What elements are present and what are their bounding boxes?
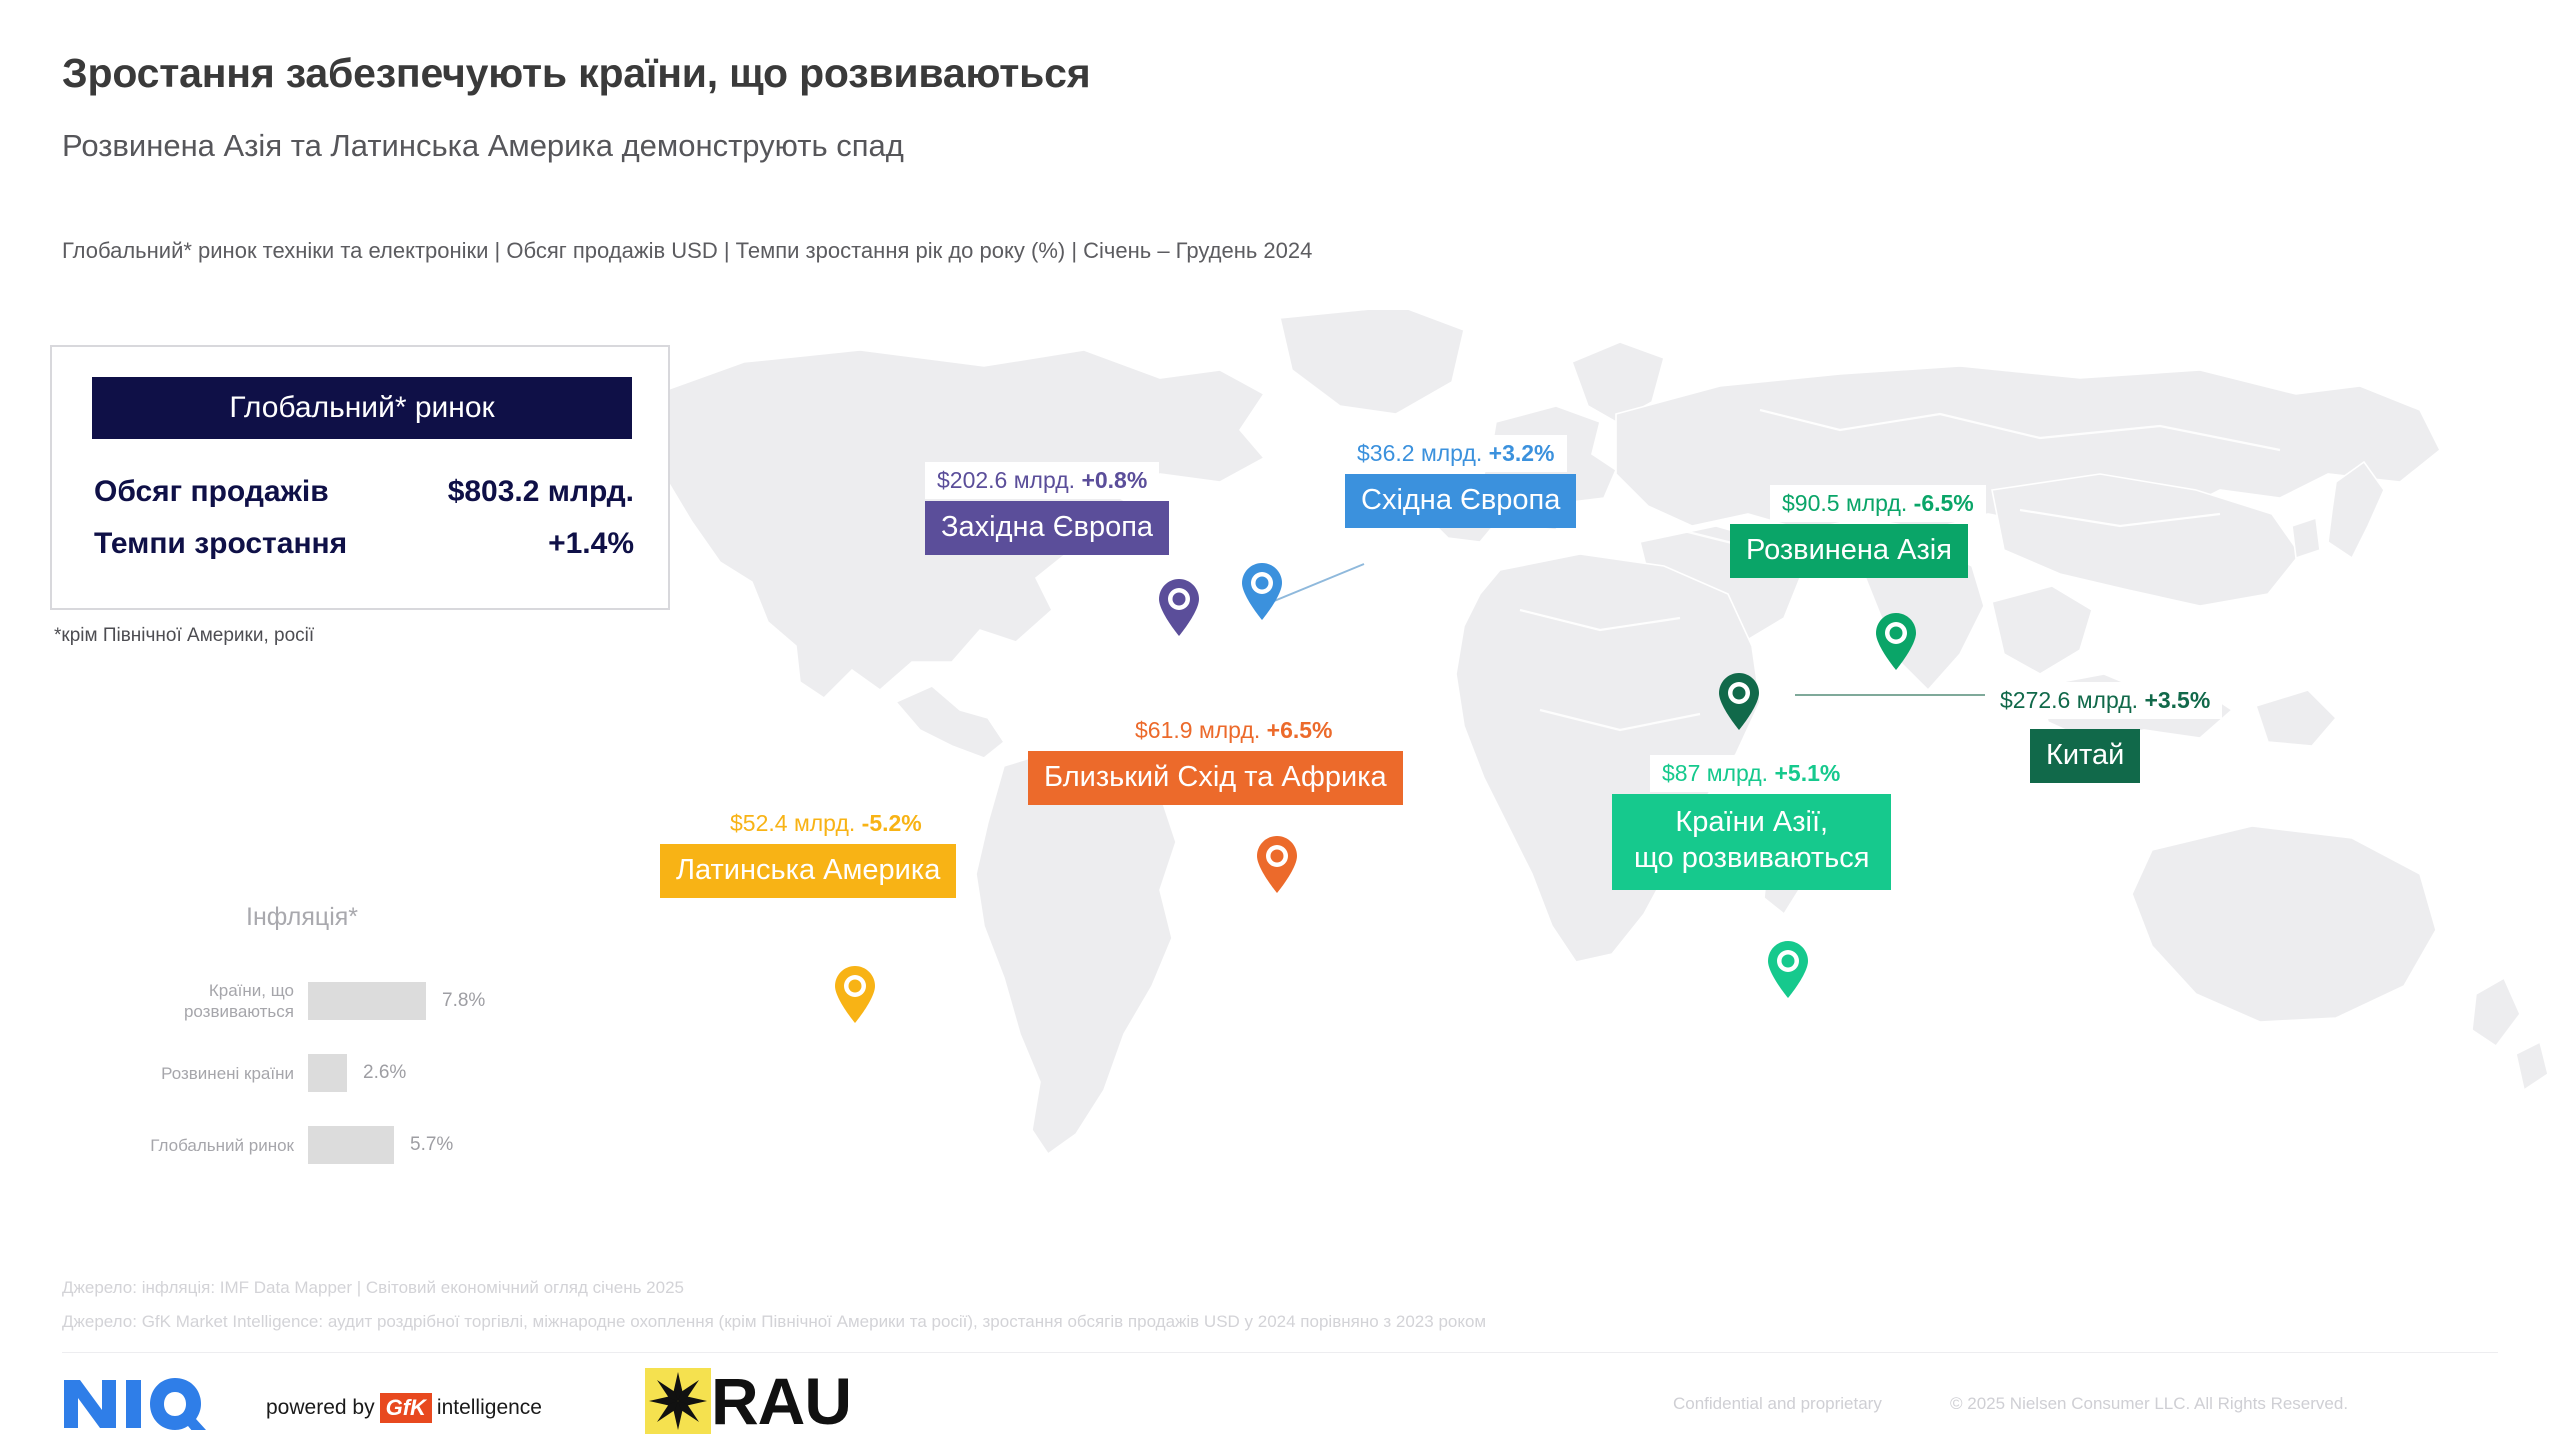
inflation-value: 2.6% xyxy=(347,1062,406,1084)
region-sales-developing-asia: $87 млрд. xyxy=(1662,760,1768,786)
global-sales-row: Обсяг продажів $803.2 млрд. xyxy=(94,475,634,509)
intelligence-label: intelligence xyxy=(437,1396,542,1420)
inflation-title: Інфляція* xyxy=(246,903,358,932)
region-sales-latin-america: $52.4 млрд. xyxy=(730,810,855,836)
region-sales-western-europe: $202.6 млрд. xyxy=(937,467,1075,493)
footer-divider xyxy=(62,1352,2498,1353)
page-title: Зростання забезпечують країни, що розвив… xyxy=(62,50,1090,97)
powered-by-label: powered by xyxy=(266,1396,375,1420)
region-developing-asia[interactable]: $87 млрд. +5.1% Країни Азії, що розвиваю… xyxy=(1612,755,1891,890)
map-pin-latin-america[interactable] xyxy=(833,965,877,1025)
global-sales-value: $803.2 млрд. xyxy=(448,475,634,509)
region-growth-developing-asia: +5.1% xyxy=(1774,760,1840,786)
region-growth-eastern-europe: +3.2% xyxy=(1489,440,1555,466)
global-market-heading: Глобальний* ринок xyxy=(92,377,632,439)
region-growth-china: +3.5% xyxy=(2144,687,2210,713)
region-developed-asia[interactable]: $90.5 млрд. -6.5% Розвинена Азія xyxy=(1730,485,1986,578)
inflation-row-label: Розвинені країни xyxy=(110,1063,308,1084)
rau-star-icon xyxy=(645,1368,711,1434)
region-growth-latin-america: -5.2% xyxy=(862,810,922,836)
region-figures-latin-america: $52.4 млрд. -5.2% xyxy=(718,805,934,842)
map-pin-western-europe[interactable] xyxy=(1157,578,1201,638)
region-label-middle-east-africa[interactable]: Близький Схід та Африка xyxy=(1028,751,1403,805)
inflation-row-label: Глобальний ринок xyxy=(110,1135,308,1156)
inflation-row: Країни, що розвиваються7.8% xyxy=(110,965,530,1037)
global-market-heading-text: Глобальний* ринок xyxy=(229,391,494,425)
region-middle-east-africa[interactable]: $61.9 млрд. +6.5% Близький Схід та Африк… xyxy=(1028,712,1403,805)
region-growth-developed-asia: -6.5% xyxy=(1914,490,1974,516)
region-eastern-europe[interactable]: $36.2 млрд. +3.2% Східна Європа xyxy=(1345,435,1576,528)
inflation-row-label: Країни, що розвиваються xyxy=(110,980,308,1022)
inflation-bar xyxy=(308,1054,347,1092)
leader-line-china xyxy=(1795,688,1985,702)
region-label-developing-asia-line1: Країни Азії, xyxy=(1675,806,1828,838)
map-pin-china[interactable] xyxy=(1717,672,1761,732)
inflation-value: 7.8% xyxy=(426,990,485,1012)
region-latin-america[interactable]: $52.4 млрд. -5.2% Латинська Америка xyxy=(660,805,956,898)
map-pin-eastern-europe[interactable] xyxy=(1240,562,1284,622)
rau-wordmark: RAU xyxy=(711,1368,851,1434)
global-market-note: *крім Північної Америки, росії xyxy=(54,625,314,647)
infographic-root: Зростання забезпечують країни, що розвив… xyxy=(0,0,2560,1440)
confidential-label: Confidential and proprietary xyxy=(1673,1394,1882,1414)
region-label-latin-america[interactable]: Латинська Америка xyxy=(660,844,956,898)
region-label-eastern-europe[interactable]: Східна Європа xyxy=(1345,474,1576,528)
inflation-value: 5.7% xyxy=(394,1134,453,1156)
inflation-bar xyxy=(308,1126,394,1164)
global-market-panel: Глобальний* ринок Обсяг продажів $803.2 … xyxy=(50,345,670,610)
map-pin-middle-east-africa[interactable] xyxy=(1255,835,1299,895)
region-label-developing-asia-line2: що розвиваються xyxy=(1634,842,1869,874)
page-subtitle: Розвинена Азія та Латинська Америка демо… xyxy=(62,128,904,164)
niq-logo-svg xyxy=(62,1378,206,1430)
region-label-developing-asia[interactable]: Країни Азії, що розвиваються xyxy=(1612,794,1891,890)
region-sales-developed-asia: $90.5 млрд. xyxy=(1782,490,1907,516)
global-sales-label: Обсяг продажів xyxy=(94,475,329,509)
powered-by-gfk: powered by GfK intelligence xyxy=(266,1393,542,1423)
gfk-logo: GfK xyxy=(380,1393,432,1423)
copyright-label: © 2025 Nielsen Consumer LLC. All Rights … xyxy=(1950,1394,2348,1414)
page-caption: Глобальний* ринок техніки та електроніки… xyxy=(62,238,1312,264)
region-label-western-europe[interactable]: Західна Європа xyxy=(925,501,1169,555)
niq-logo xyxy=(62,1378,206,1435)
region-label-china[interactable]: Китай xyxy=(2030,729,2140,783)
rau-star-svg xyxy=(645,1368,711,1434)
region-label-developed-asia[interactable]: Розвинена Азія xyxy=(1730,524,1968,578)
global-growth-row: Темпи зростання +1.4% xyxy=(94,527,634,561)
inflation-chart: Країни, що розвиваються7.8%Розвинені кра… xyxy=(110,965,530,1181)
map-pin-developed-asia[interactable] xyxy=(1874,612,1918,672)
source-line-2: Джерело: GfK Market Intelligence: аудит … xyxy=(62,1312,1486,1332)
global-growth-value: +1.4% xyxy=(548,527,634,561)
region-figures-china: $272.6 млрд. +3.5% xyxy=(1988,682,2222,719)
region-growth-middle-east-africa: +6.5% xyxy=(1267,717,1333,743)
source-line-1: Джерело: інфляція: IMF Data Mapper | Сві… xyxy=(62,1278,684,1298)
region-figures-middle-east-africa: $61.9 млрд. +6.5% xyxy=(1123,712,1345,749)
global-growth-label: Темпи зростання xyxy=(94,527,347,561)
inflation-row: Розвинені країни2.6% xyxy=(110,1037,530,1109)
region-sales-middle-east-africa: $61.9 млрд. xyxy=(1135,717,1260,743)
region-figures-developed-asia: $90.5 млрд. -6.5% xyxy=(1770,485,1986,522)
region-figures-western-europe: $202.6 млрд. +0.8% xyxy=(925,462,1159,499)
rau-logo: RAU xyxy=(645,1368,851,1434)
region-western-europe[interactable]: $202.6 млрд. +0.8% Західна Європа xyxy=(925,462,1169,555)
region-china[interactable]: $272.6 млрд. +3.5% Китай xyxy=(1988,682,2222,783)
region-figures-developing-asia: $87 млрд. +5.1% xyxy=(1650,755,1852,792)
map-pin-developing-asia[interactable] xyxy=(1766,940,1810,1000)
inflation-bar xyxy=(308,982,426,1020)
inflation-row: Глобальний ринок5.7% xyxy=(110,1109,530,1181)
region-sales-china: $272.6 млрд. xyxy=(2000,687,2138,713)
region-figures-eastern-europe: $36.2 млрд. +3.2% xyxy=(1345,435,1567,472)
region-growth-western-europe: +0.8% xyxy=(1081,467,1147,493)
region-sales-eastern-europe: $36.2 млрд. xyxy=(1357,440,1482,466)
